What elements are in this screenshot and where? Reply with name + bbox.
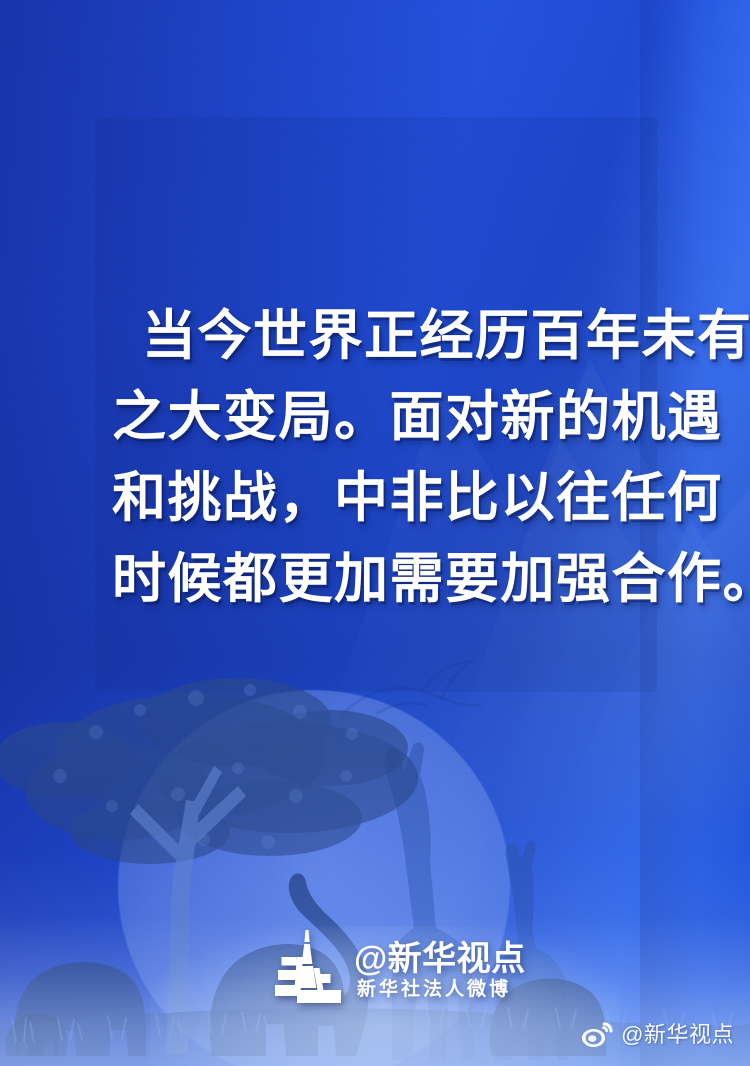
quote-line-2: 之大变局。面对新的机遇	[112, 377, 672, 458]
xinhua-logo-text-group: @新华视点 新华社法人微博	[354, 940, 526, 1004]
weibo-icon	[581, 1022, 613, 1048]
quote-line-1: 当今世界正经历百年未有	[112, 296, 672, 377]
poster-canvas: 当今世界正经历百年未有 之大变局。面对新的机遇 和挑战，中非比以往任何 时候都更…	[0, 0, 750, 1066]
xinhua-logo-subtitle: 新华社法人微博	[354, 978, 526, 1002]
xinhua-logo-title: @新华视点	[354, 940, 526, 978]
weibo-watermark[interactable]: @新华视点	[581, 1022, 734, 1048]
quote-line-3: 和挑战，中非比以往任何	[112, 458, 672, 539]
quote-line-4: 时候都更加需要加强合作。	[112, 539, 672, 620]
xinhua-tower-mark-icon	[272, 930, 344, 1004]
xinhua-logo-lockup[interactable]: @新华视点 新华社法人微博	[272, 930, 526, 1004]
quote-block: 当今世界正经历百年未有 之大变局。面对新的机遇 和挑战，中非比以往任何 时候都更…	[112, 296, 672, 620]
weibo-watermark-text: @新华视点	[621, 1023, 734, 1047]
